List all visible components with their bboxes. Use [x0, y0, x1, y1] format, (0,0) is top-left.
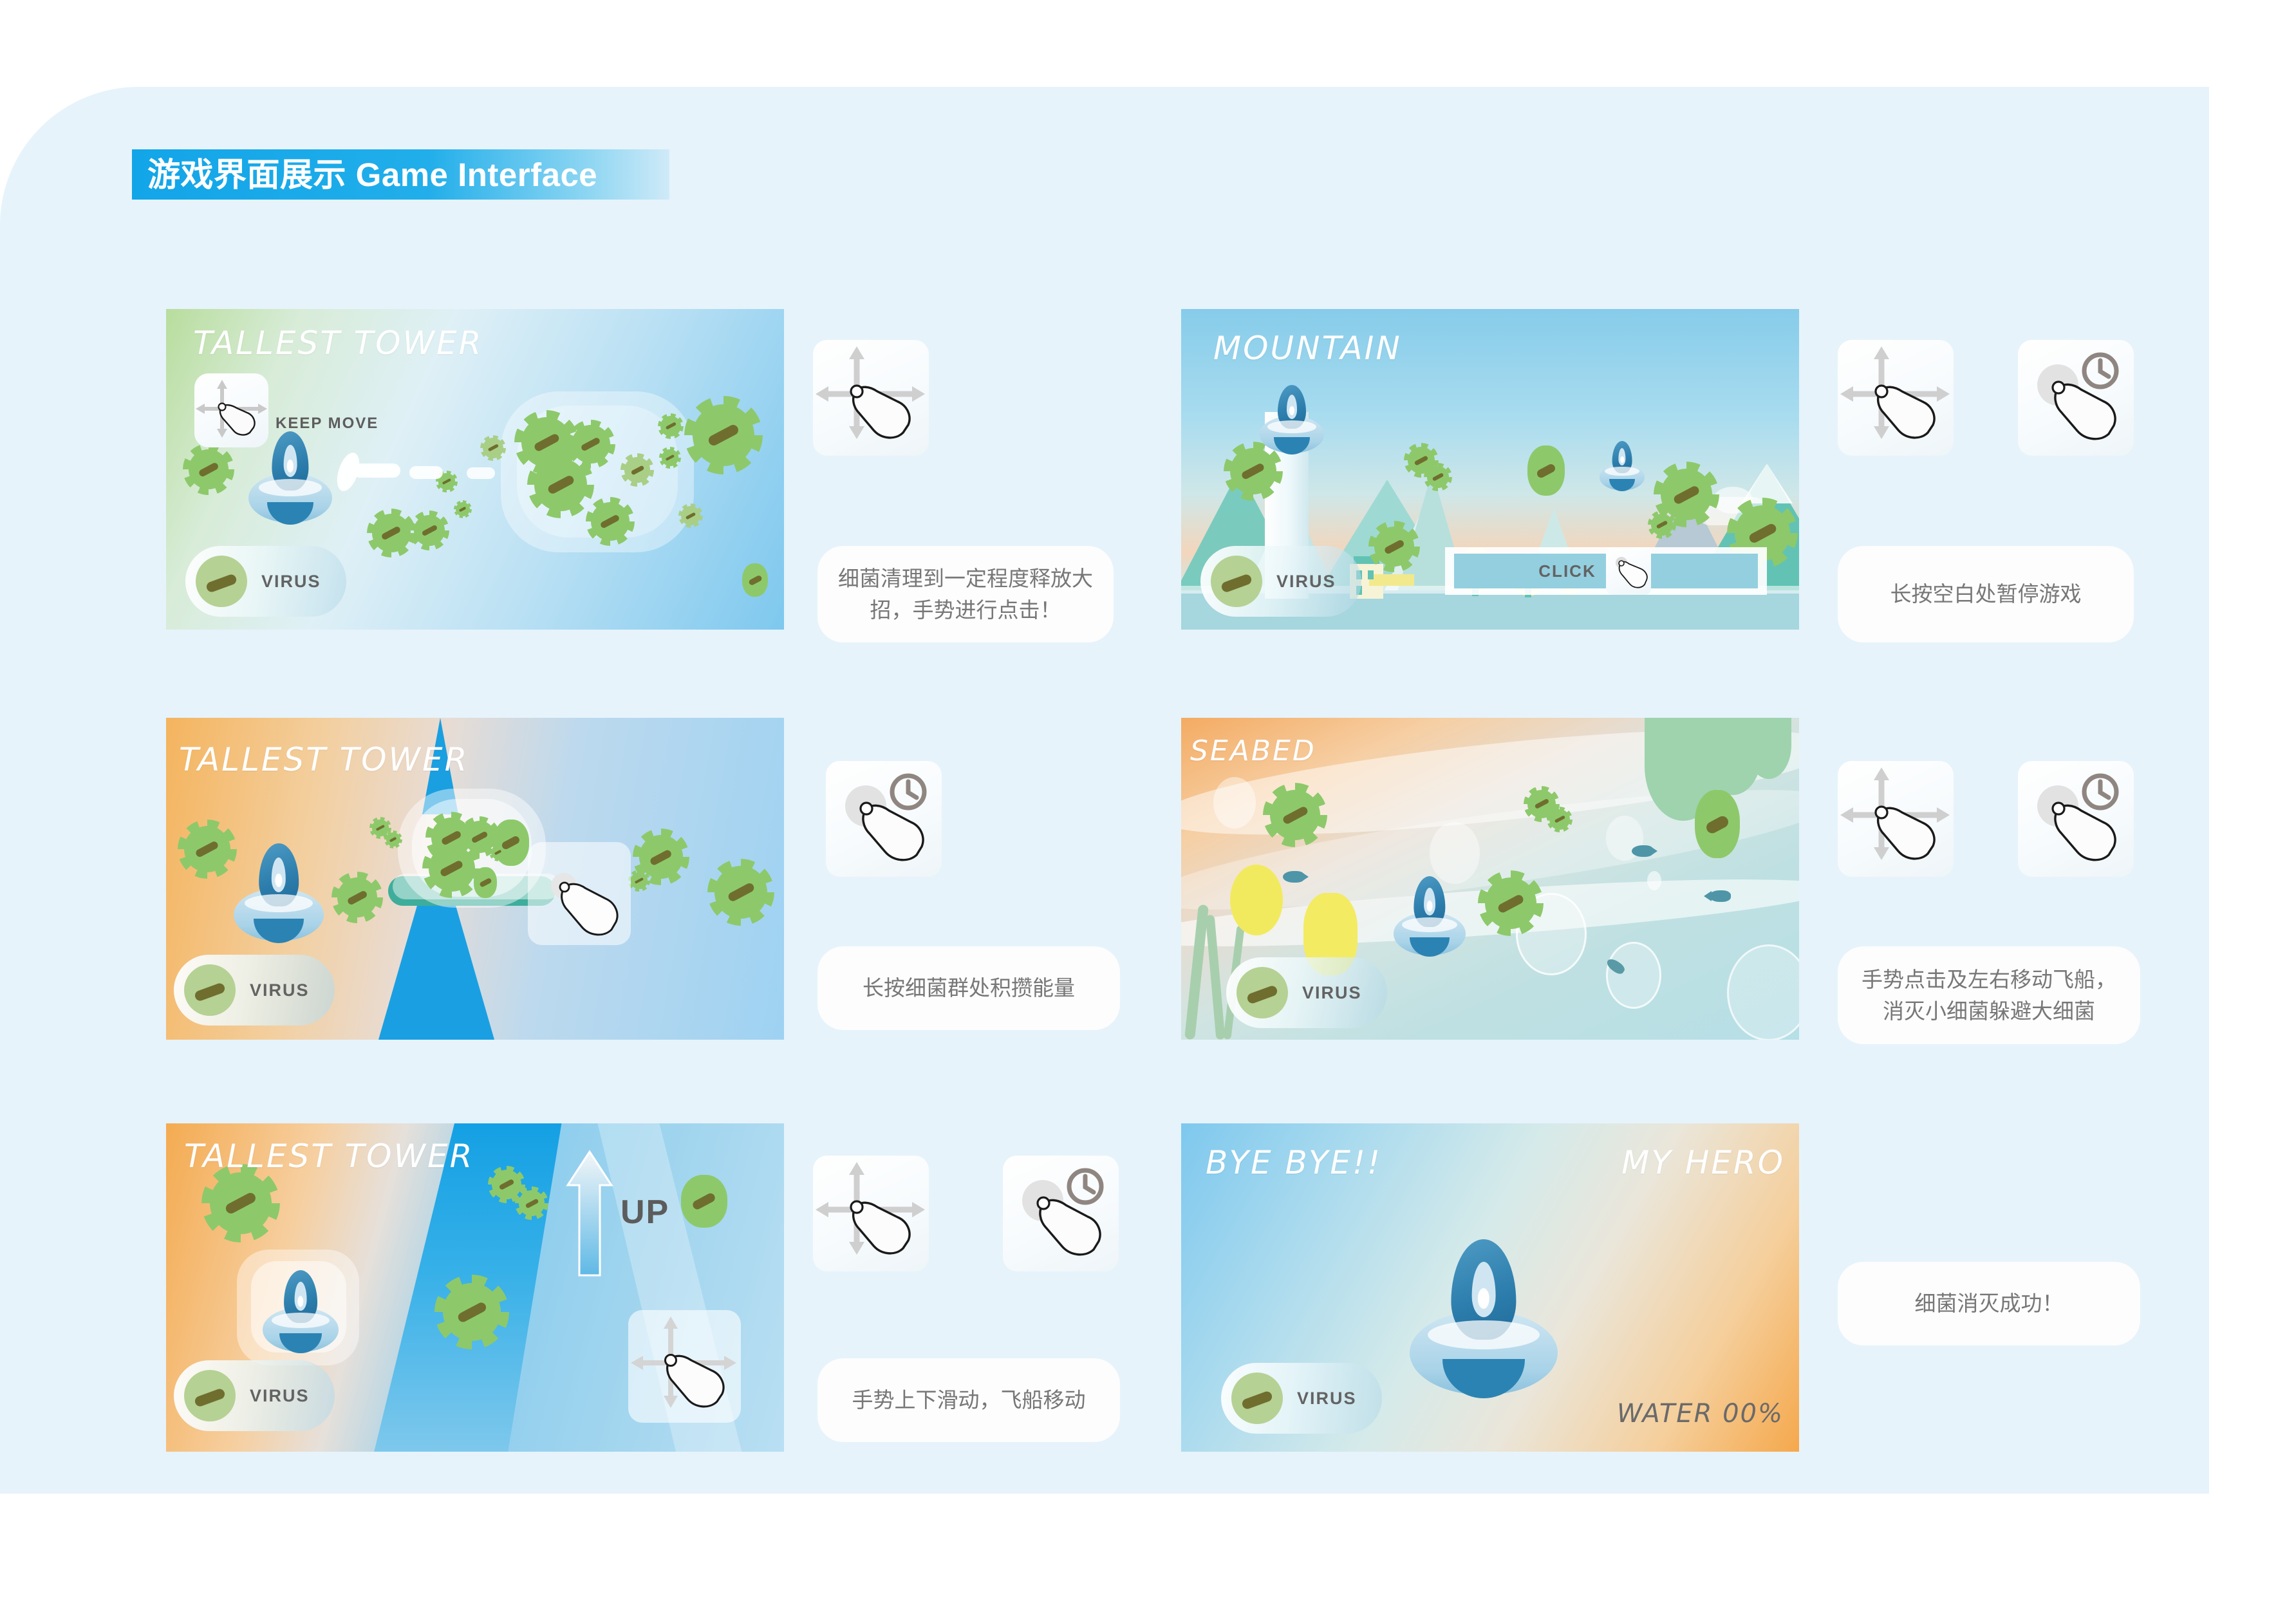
projectile-trail: [467, 467, 495, 479]
player-ship: [1394, 876, 1466, 959]
caption-bubble: 长按空白处暂停游戏: [1838, 546, 2134, 642]
screen-title: MOUNTAIN: [1213, 330, 1402, 367]
germ: [534, 458, 587, 511]
clock-icon: [1069, 1170, 1101, 1203]
germ: [1651, 514, 1673, 536]
virus-icon: [184, 964, 236, 1016]
fish-tail: [1704, 891, 1712, 901]
virus-legend: VIRUS: [1200, 546, 1361, 617]
game-screen-bye-bye[interactable]: BYE BYE!! MY HERO VIRUS WATER 00%: [1181, 1123, 1799, 1452]
germ: [1427, 466, 1449, 488]
clock-icon: [892, 776, 924, 808]
up-arrow-icon: [565, 1149, 614, 1278]
game-screen-seabed[interactable]: SEABED VIRUS: [1181, 718, 1799, 1040]
germ: [210, 1172, 272, 1234]
germ: [337, 877, 377, 917]
germ: [742, 563, 768, 597]
pan-arrows-and-hand-glyph: [194, 373, 268, 447]
pan-gesture-icon[interactable]: [628, 1310, 741, 1423]
water-meter-label: WATER 00%: [1617, 1399, 1784, 1429]
long-press-gesture-icon[interactable]: [1003, 1156, 1119, 1271]
pan-arrows-and-hand-glyph: [813, 1156, 929, 1271]
poster-root: 游戏界面展示 Game Interface: [0, 0, 2296, 1612]
player-ship: [1260, 385, 1324, 456]
long-press-gesture-icon[interactable]: [528, 842, 631, 945]
virus-legend: VIRUS: [1226, 957, 1387, 1028]
bubble: [1213, 777, 1256, 829]
keep-move-label: KEEP MOVE: [275, 415, 378, 433]
game-screen-tallest-tower-1[interactable]: KEEP MOVE TALLEST TOWER VIRUS: [166, 309, 784, 630]
pan-gesture-icon[interactable]: [813, 1156, 929, 1271]
virus-legend-label: VIRUS: [261, 572, 321, 592]
game-screen-mountain[interactable]: MOUNTAIN VIRUS CLICK: [1181, 309, 1799, 630]
screen-title: TALLEST TOWER: [179, 741, 469, 778]
long-press-gesture-icon[interactable]: [2018, 340, 2134, 456]
projectile-trail: [409, 466, 443, 479]
virus-legend: VIRUS: [174, 1360, 335, 1431]
long-press-gesture-icon[interactable]: [826, 761, 942, 877]
germ: [662, 449, 678, 466]
virus-icon: [1231, 1373, 1283, 1424]
player-ship: [1410, 1239, 1558, 1401]
virus-legend: VIRUS: [174, 955, 335, 1026]
germ: [386, 832, 400, 847]
bubble: [1647, 871, 1661, 890]
screen-title: BYE BYE!!: [1206, 1144, 1382, 1181]
caption-bubble: 手势点击及左右移动飞船，消灭小细菌躲避大细菌: [1838, 946, 2140, 1044]
germ: [519, 1190, 545, 1216]
virus-icon: [1211, 556, 1262, 607]
germ: [1485, 877, 1536, 929]
click-button-label: CLICK: [1538, 561, 1596, 581]
germ: [474, 867, 497, 898]
player-ship: [234, 843, 324, 945]
fish-tail: [1301, 872, 1309, 882]
clock-icon: [2084, 776, 2116, 808]
germ: [483, 438, 503, 458]
virus-icon: [196, 556, 247, 607]
projectile-trail: [353, 464, 400, 478]
fish-tail: [1650, 846, 1657, 856]
virus-legend: VIRUS: [1221, 1363, 1382, 1434]
germ: [443, 1283, 501, 1341]
caption-bubble: 手势上下滑动，飞船移动: [817, 1358, 1120, 1442]
pan-arrows-and-hand-glyph: [813, 340, 929, 456]
pan-gesture-icon[interactable]: [813, 340, 929, 456]
virus-legend-label: VIRUS: [1276, 572, 1336, 592]
long-press-hand-and-clock-glyph: [2018, 761, 2134, 877]
germ: [631, 872, 648, 889]
pan-gesture-icon[interactable]: [194, 373, 268, 447]
germ: [624, 457, 650, 483]
building-window: [1368, 570, 1374, 579]
tap-gesture-icon[interactable]: [1606, 547, 1651, 595]
coral: [1230, 865, 1283, 935]
germ: [1374, 527, 1414, 567]
screen-title: SEABED: [1190, 735, 1316, 767]
long-press-hand-and-clock-glyph: [826, 761, 942, 877]
caption-bubble: 细菌清理到一定程度释放大招，手势进行点击！: [817, 546, 1114, 642]
germ: [1695, 790, 1740, 858]
germ: [1527, 445, 1565, 496]
page-title-banner: 游戏界面展示 Game Interface: [132, 149, 669, 200]
virus-legend-label: VIRUS: [250, 980, 310, 1000]
pan-arrows-and-hand-glyph: [1838, 761, 1954, 877]
germ: [372, 514, 411, 552]
bubble: [1606, 942, 1661, 1009]
caption-bubble: 细菌消灭成功！: [1838, 1262, 2140, 1345]
germ: [1270, 790, 1320, 840]
germ: [660, 416, 681, 436]
clock-icon: [2084, 355, 2116, 387]
germ: [681, 1175, 727, 1228]
germ: [693, 404, 754, 466]
enemy-ship: [1600, 441, 1645, 492]
pan-gesture-icon[interactable]: [1838, 761, 1954, 877]
building: [1369, 574, 1414, 586]
screen-title: TALLEST TOWER: [193, 324, 483, 362]
germ: [714, 866, 767, 919]
virus-legend: VIRUS: [185, 546, 346, 617]
virus-icon: [184, 1370, 236, 1421]
player-ship: [263, 1270, 339, 1355]
germ: [414, 515, 445, 546]
germ: [456, 502, 470, 516]
germ: [184, 826, 230, 872]
bubble: [1430, 822, 1480, 884]
virus-legend-label: VIRUS: [250, 1386, 310, 1406]
germ: [591, 502, 630, 541]
long-press-hand-and-clock-glyph: [1003, 1156, 1119, 1271]
germ: [189, 449, 229, 489]
germ: [1549, 809, 1570, 830]
game-screen-tallest-tower-3[interactable]: UP TALLEST TOWER VIRUS: [166, 1123, 784, 1452]
fish: [1709, 890, 1731, 902]
page-title: 游戏界面展示 Game Interface: [132, 158, 597, 191]
game-screen-tallest-tower-2[interactable]: TALLEST TOWER VIRUS: [166, 718, 784, 1040]
up-label: UP: [621, 1193, 669, 1232]
caption-bubble: 长按细菌群处积攒能量: [817, 946, 1120, 1030]
tap-hand-glyph: [1606, 547, 1651, 595]
long-press-gesture-icon[interactable]: [2018, 761, 2134, 877]
hero-label: MY HERO: [1621, 1144, 1785, 1181]
pan-gesture-icon[interactable]: [1838, 340, 1954, 456]
long-press-hand-and-clock-glyph: [2018, 340, 2134, 456]
virus-legend-label: VIRUS: [1297, 1389, 1357, 1409]
pan-arrows-and-hand-glyph: [628, 1310, 741, 1423]
long-press-hand-glyph: [528, 842, 631, 945]
virus-icon: [1237, 967, 1288, 1018]
pan-arrows-and-hand-glyph: [1838, 340, 1954, 456]
germ: [681, 506, 700, 525]
germ: [429, 845, 475, 892]
screen-title: TALLEST TOWER: [184, 1138, 474, 1175]
virus-legend-label: VIRUS: [1302, 983, 1362, 1003]
